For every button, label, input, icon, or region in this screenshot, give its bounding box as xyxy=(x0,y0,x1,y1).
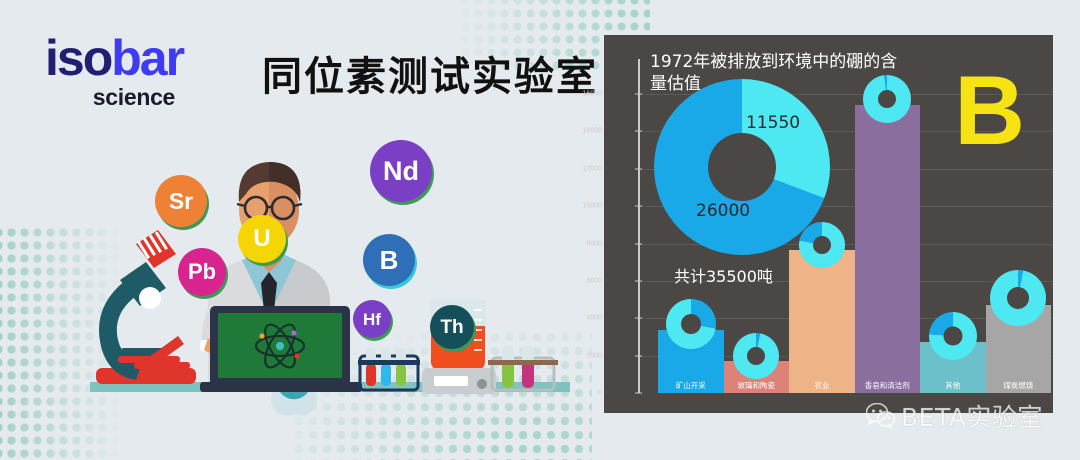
y-axis-tick-mark xyxy=(635,206,642,207)
element-bubble-sr[interactable]: Sr xyxy=(155,175,207,227)
y-axis-tick-label: 16000 xyxy=(583,91,602,98)
element-bubble-pb[interactable]: Pb xyxy=(178,248,226,296)
main-donut-hole xyxy=(708,133,776,201)
chart-bar-label: 矿山开采 xyxy=(658,380,724,391)
chart-bar-label: 农业 xyxy=(789,380,855,391)
y-axis-tick-mark xyxy=(635,318,642,319)
brand-logo[interactable]: isobar science xyxy=(45,33,183,111)
y-axis-tick-mark xyxy=(635,393,642,394)
element-bubble-label: Nd xyxy=(383,158,419,185)
y-axis-tick-mark xyxy=(635,94,642,95)
main-donut-value-label: 11550 xyxy=(746,113,800,133)
lab-illustration xyxy=(90,120,570,460)
element-bubble-label: U xyxy=(253,227,270,251)
y-axis-tick-mark xyxy=(635,131,642,132)
microscope xyxy=(96,230,196,384)
element-symbol-boron: B xyxy=(954,65,1025,155)
y-axis-tick-mark xyxy=(635,168,642,169)
y-axis-tick-label: 8000 xyxy=(586,240,602,247)
donut-hole xyxy=(747,347,765,365)
donut-hole xyxy=(878,90,896,108)
chart-bar-label: 香皂和清洁剂 xyxy=(855,380,921,391)
donut-hole xyxy=(1007,287,1029,309)
main-donut-value-label: 26000 xyxy=(696,201,750,221)
y-axis-tick-label: 6000 xyxy=(586,277,602,284)
watermark-text: BETA实验室 xyxy=(901,398,1043,434)
donut-hole xyxy=(943,326,962,345)
y-axis-tick-mark xyxy=(635,280,642,281)
element-bubble-label: Hf xyxy=(363,311,381,328)
logo-text-bar: bar xyxy=(111,30,183,86)
boron-emissions-chart: 0200040006000800010000120001400016000 19… xyxy=(604,35,1053,413)
y-axis-tick-mark xyxy=(635,355,642,356)
element-bubble-b[interactable]: B xyxy=(363,234,415,286)
element-bubble-label: B xyxy=(380,247,399,273)
y-axis-tick-label: 14000 xyxy=(583,128,602,135)
bar-donut-overlay xyxy=(733,333,779,379)
element-bubble-u[interactable]: U xyxy=(238,215,286,263)
watermark: BETA实验室 xyxy=(866,398,1043,434)
element-bubble-hf[interactable]: Hf xyxy=(353,300,391,338)
element-bubble-label: Sr xyxy=(169,190,193,213)
chart-bar: 农业 xyxy=(789,250,855,393)
chart-bar: 香皂和清洁剂 xyxy=(855,105,921,393)
y-axis-tick-label: 4000 xyxy=(586,315,602,322)
y-axis-tick-mark xyxy=(635,243,642,244)
donut-hole xyxy=(681,314,701,334)
y-axis-tick-label: 0 xyxy=(598,390,602,397)
infographic-banner: isobar science 同位素测试实验室 xyxy=(0,0,1080,460)
y-axis-tick-label: 12000 xyxy=(583,165,602,172)
y-axis-tick-label: 10000 xyxy=(583,203,602,210)
chart-bar-label: 其他 xyxy=(920,380,986,391)
logo-text-iso: iso xyxy=(45,30,111,86)
wechat-icon xyxy=(866,403,896,429)
donut-hole xyxy=(813,236,831,254)
chart-bar-label: 玻璃和陶瓷 xyxy=(724,380,790,391)
laptop-with-atom xyxy=(200,306,362,392)
bar-donut-overlay xyxy=(929,312,977,360)
page-title: 同位素测试实验室 xyxy=(262,44,598,102)
chart-total-label: 共计35500吨 xyxy=(674,263,773,287)
logo-wordmark: isobar xyxy=(45,33,183,83)
y-axis-line xyxy=(638,59,640,393)
y-axis-tick-label: 2000 xyxy=(586,352,602,359)
element-bubble-label: Th xyxy=(440,318,463,337)
element-bubble-th[interactable]: Th xyxy=(430,305,474,349)
chart-bar-label: 煤炭燃烧 xyxy=(986,380,1052,391)
bar-donut-overlay xyxy=(666,299,716,349)
element-bubble-nd[interactable]: Nd xyxy=(370,140,432,202)
main-donut-ring xyxy=(654,79,830,255)
bar-donut-overlay xyxy=(799,222,845,268)
element-bubble-label: Pb xyxy=(188,261,216,283)
logo-subtext: science xyxy=(45,84,183,111)
